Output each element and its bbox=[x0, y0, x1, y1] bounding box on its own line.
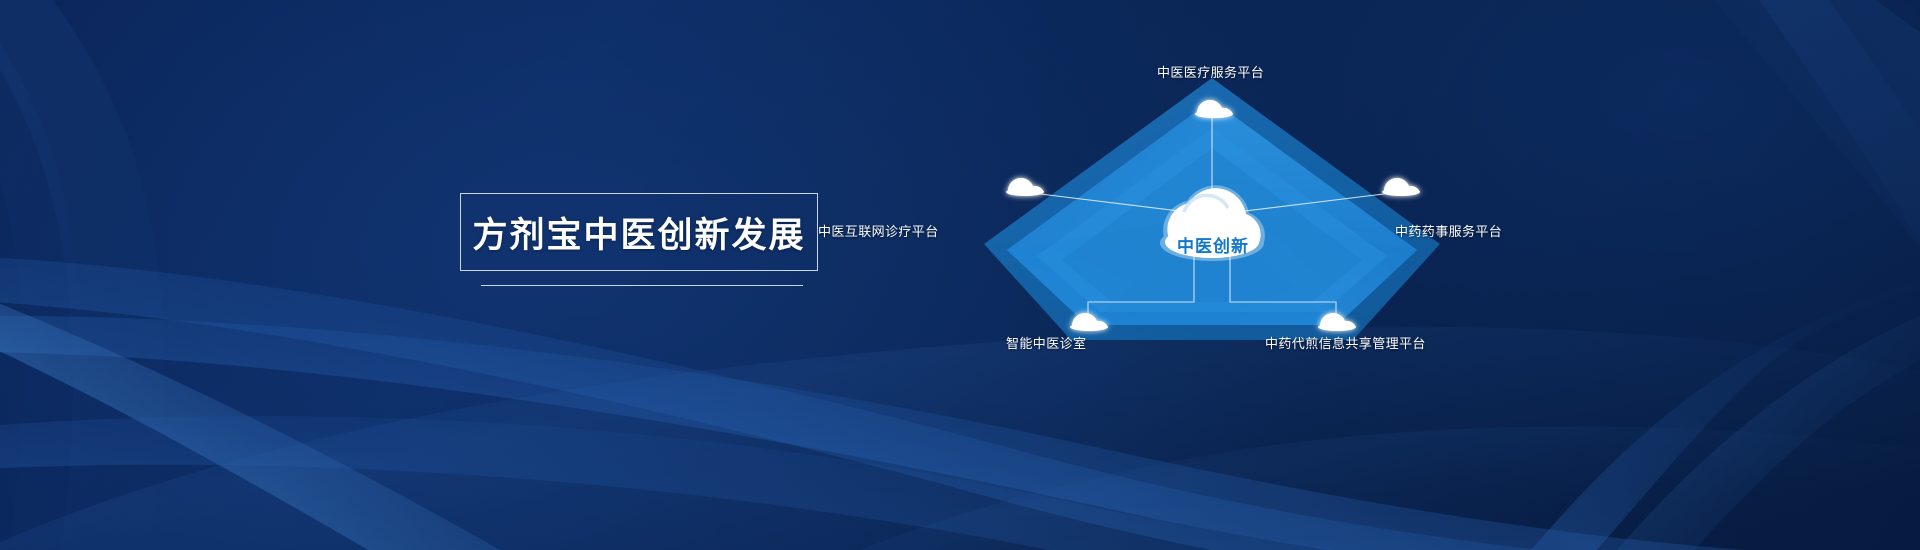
title-underline bbox=[481, 285, 803, 286]
node-label-bottom-left: 智能中医诊室 bbox=[1006, 337, 1086, 350]
pentagon-diagram: 中医创新 中医医疗服务平台 中药药事服务平台 中药代煎信息共享管理平台 智能中医… bbox=[962, 40, 1462, 370]
center-node-label: 中医创新 bbox=[1177, 232, 1249, 257]
title-frame: 方剂宝中医创新发展 bbox=[460, 193, 818, 271]
node-label-right: 中药药事服务平台 bbox=[1395, 225, 1502, 238]
node-label-top: 中医医疗服务平台 bbox=[1157, 66, 1264, 79]
cloud-icon-left bbox=[1006, 178, 1044, 196]
background-decoration bbox=[0, 0, 1920, 550]
title-block: 方剂宝中医创新发展 bbox=[460, 193, 818, 271]
node-label-bottom-right: 中药代煎信息共享管理平台 bbox=[1265, 337, 1426, 350]
cloud-icon-right bbox=[1382, 178, 1420, 196]
node-label-left: 中医互联网诊疗平台 bbox=[818, 225, 939, 238]
banner-canvas: 方剂宝中医创新发展 bbox=[0, 0, 1920, 550]
page-title: 方剂宝中医创新发展 bbox=[472, 207, 805, 258]
